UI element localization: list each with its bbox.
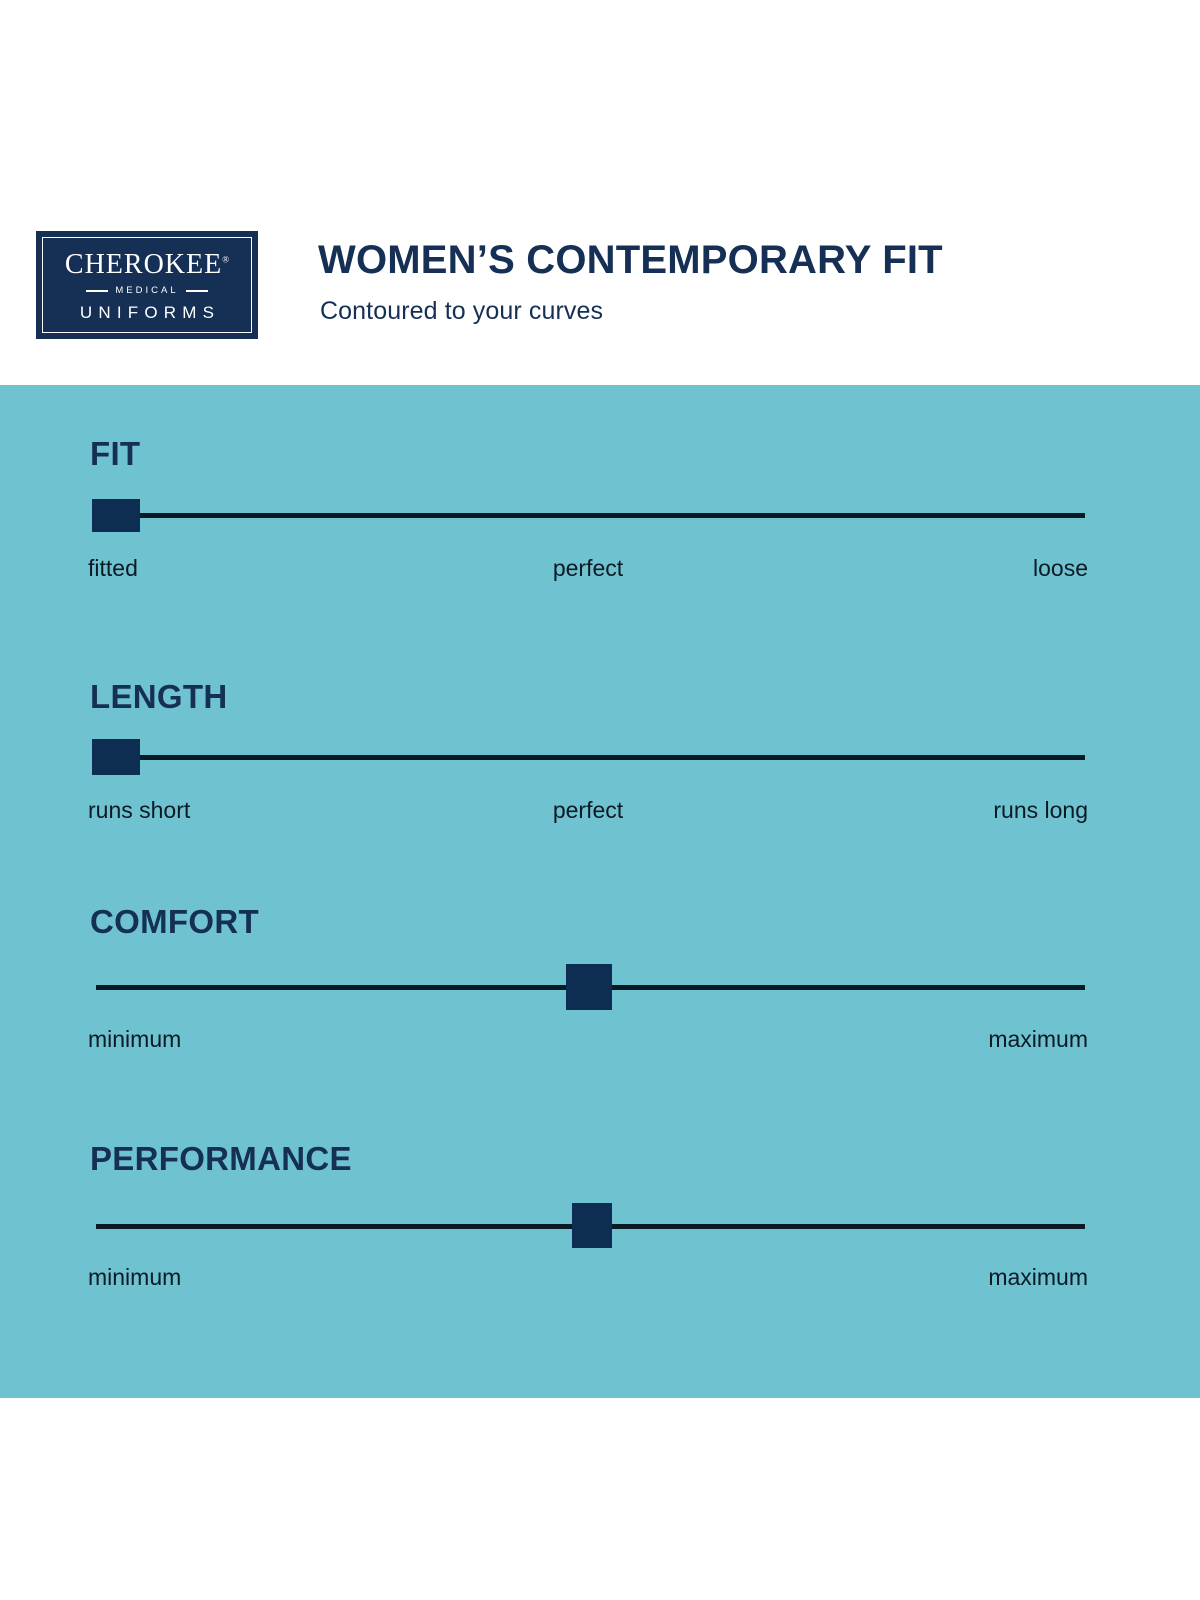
header: CHEROKEE® MEDICAL UNIFORMS WOMEN’S CONTE… bbox=[0, 0, 1200, 385]
slider-scale-max-length: runs long bbox=[993, 799, 1088, 822]
slider-scale-labels-fit: fitted perfect loose bbox=[88, 557, 1088, 587]
logo-uniforms-text: UNIFORMS bbox=[74, 304, 220, 321]
slider-scale-labels-length: runs short perfect runs long bbox=[88, 799, 1088, 829]
slider-scale-min-length: runs short bbox=[88, 799, 190, 822]
page-title: WOMEN’S CONTEMPORARY FIT bbox=[318, 239, 943, 282]
logo-medical-row: MEDICAL bbox=[86, 286, 207, 296]
logo-brand-text: CHEROKEE bbox=[65, 249, 222, 280]
slider-label-fit: FIT bbox=[90, 437, 140, 470]
fit-guide-page: CHEROKEE® MEDICAL UNIFORMS WOMEN’S CONTE… bbox=[0, 0, 1200, 1600]
slider-scale-min-comfort: minimum bbox=[88, 1028, 181, 1051]
slider-handle-length[interactable] bbox=[92, 739, 140, 775]
slider-scale-min-performance: minimum bbox=[88, 1266, 181, 1289]
registered-trademark-icon: ® bbox=[222, 255, 229, 265]
slider-scale-labels-performance: minimum maximum bbox=[88, 1266, 1088, 1296]
slider-handle-comfort[interactable] bbox=[566, 964, 612, 1010]
slider-label-length: LENGTH bbox=[90, 680, 227, 713]
slider-scale-mid-fit: perfect bbox=[553, 557, 623, 580]
slider-scale-min-fit: fitted bbox=[88, 557, 138, 580]
slider-label-performance: PERFORMANCE bbox=[90, 1142, 352, 1175]
logo-rule-left-icon bbox=[86, 290, 108, 291]
slider-scale-labels-comfort: minimum maximum bbox=[88, 1028, 1088, 1058]
fit-scales-panel: FIT fitted perfect loose LENGTH runs sho… bbox=[0, 385, 1200, 1398]
slider-scale-max-comfort: maximum bbox=[988, 1028, 1088, 1051]
slider-scale-max-performance: maximum bbox=[988, 1266, 1088, 1289]
logo-inner-border: CHEROKEE® MEDICAL UNIFORMS bbox=[42, 237, 252, 333]
slider-scale-max-fit: loose bbox=[1033, 557, 1088, 580]
cherokee-logo: CHEROKEE® MEDICAL UNIFORMS bbox=[36, 231, 258, 339]
slider-handle-fit[interactable] bbox=[92, 499, 140, 532]
slider-track-fit[interactable] bbox=[96, 513, 1085, 518]
slider-scale-mid-length: perfect bbox=[553, 799, 623, 822]
slider-label-comfort: COMFORT bbox=[90, 905, 259, 938]
footer-whitespace bbox=[0, 1398, 1200, 1600]
slider-handle-performance[interactable] bbox=[572, 1203, 612, 1248]
slider-track-length[interactable] bbox=[96, 755, 1085, 760]
page-subtitle: Contoured to your curves bbox=[320, 298, 603, 326]
logo-brand-name: CHEROKEE® bbox=[65, 251, 229, 279]
logo-medical-text: MEDICAL bbox=[115, 286, 178, 296]
logo-rule-right-icon bbox=[186, 290, 208, 291]
